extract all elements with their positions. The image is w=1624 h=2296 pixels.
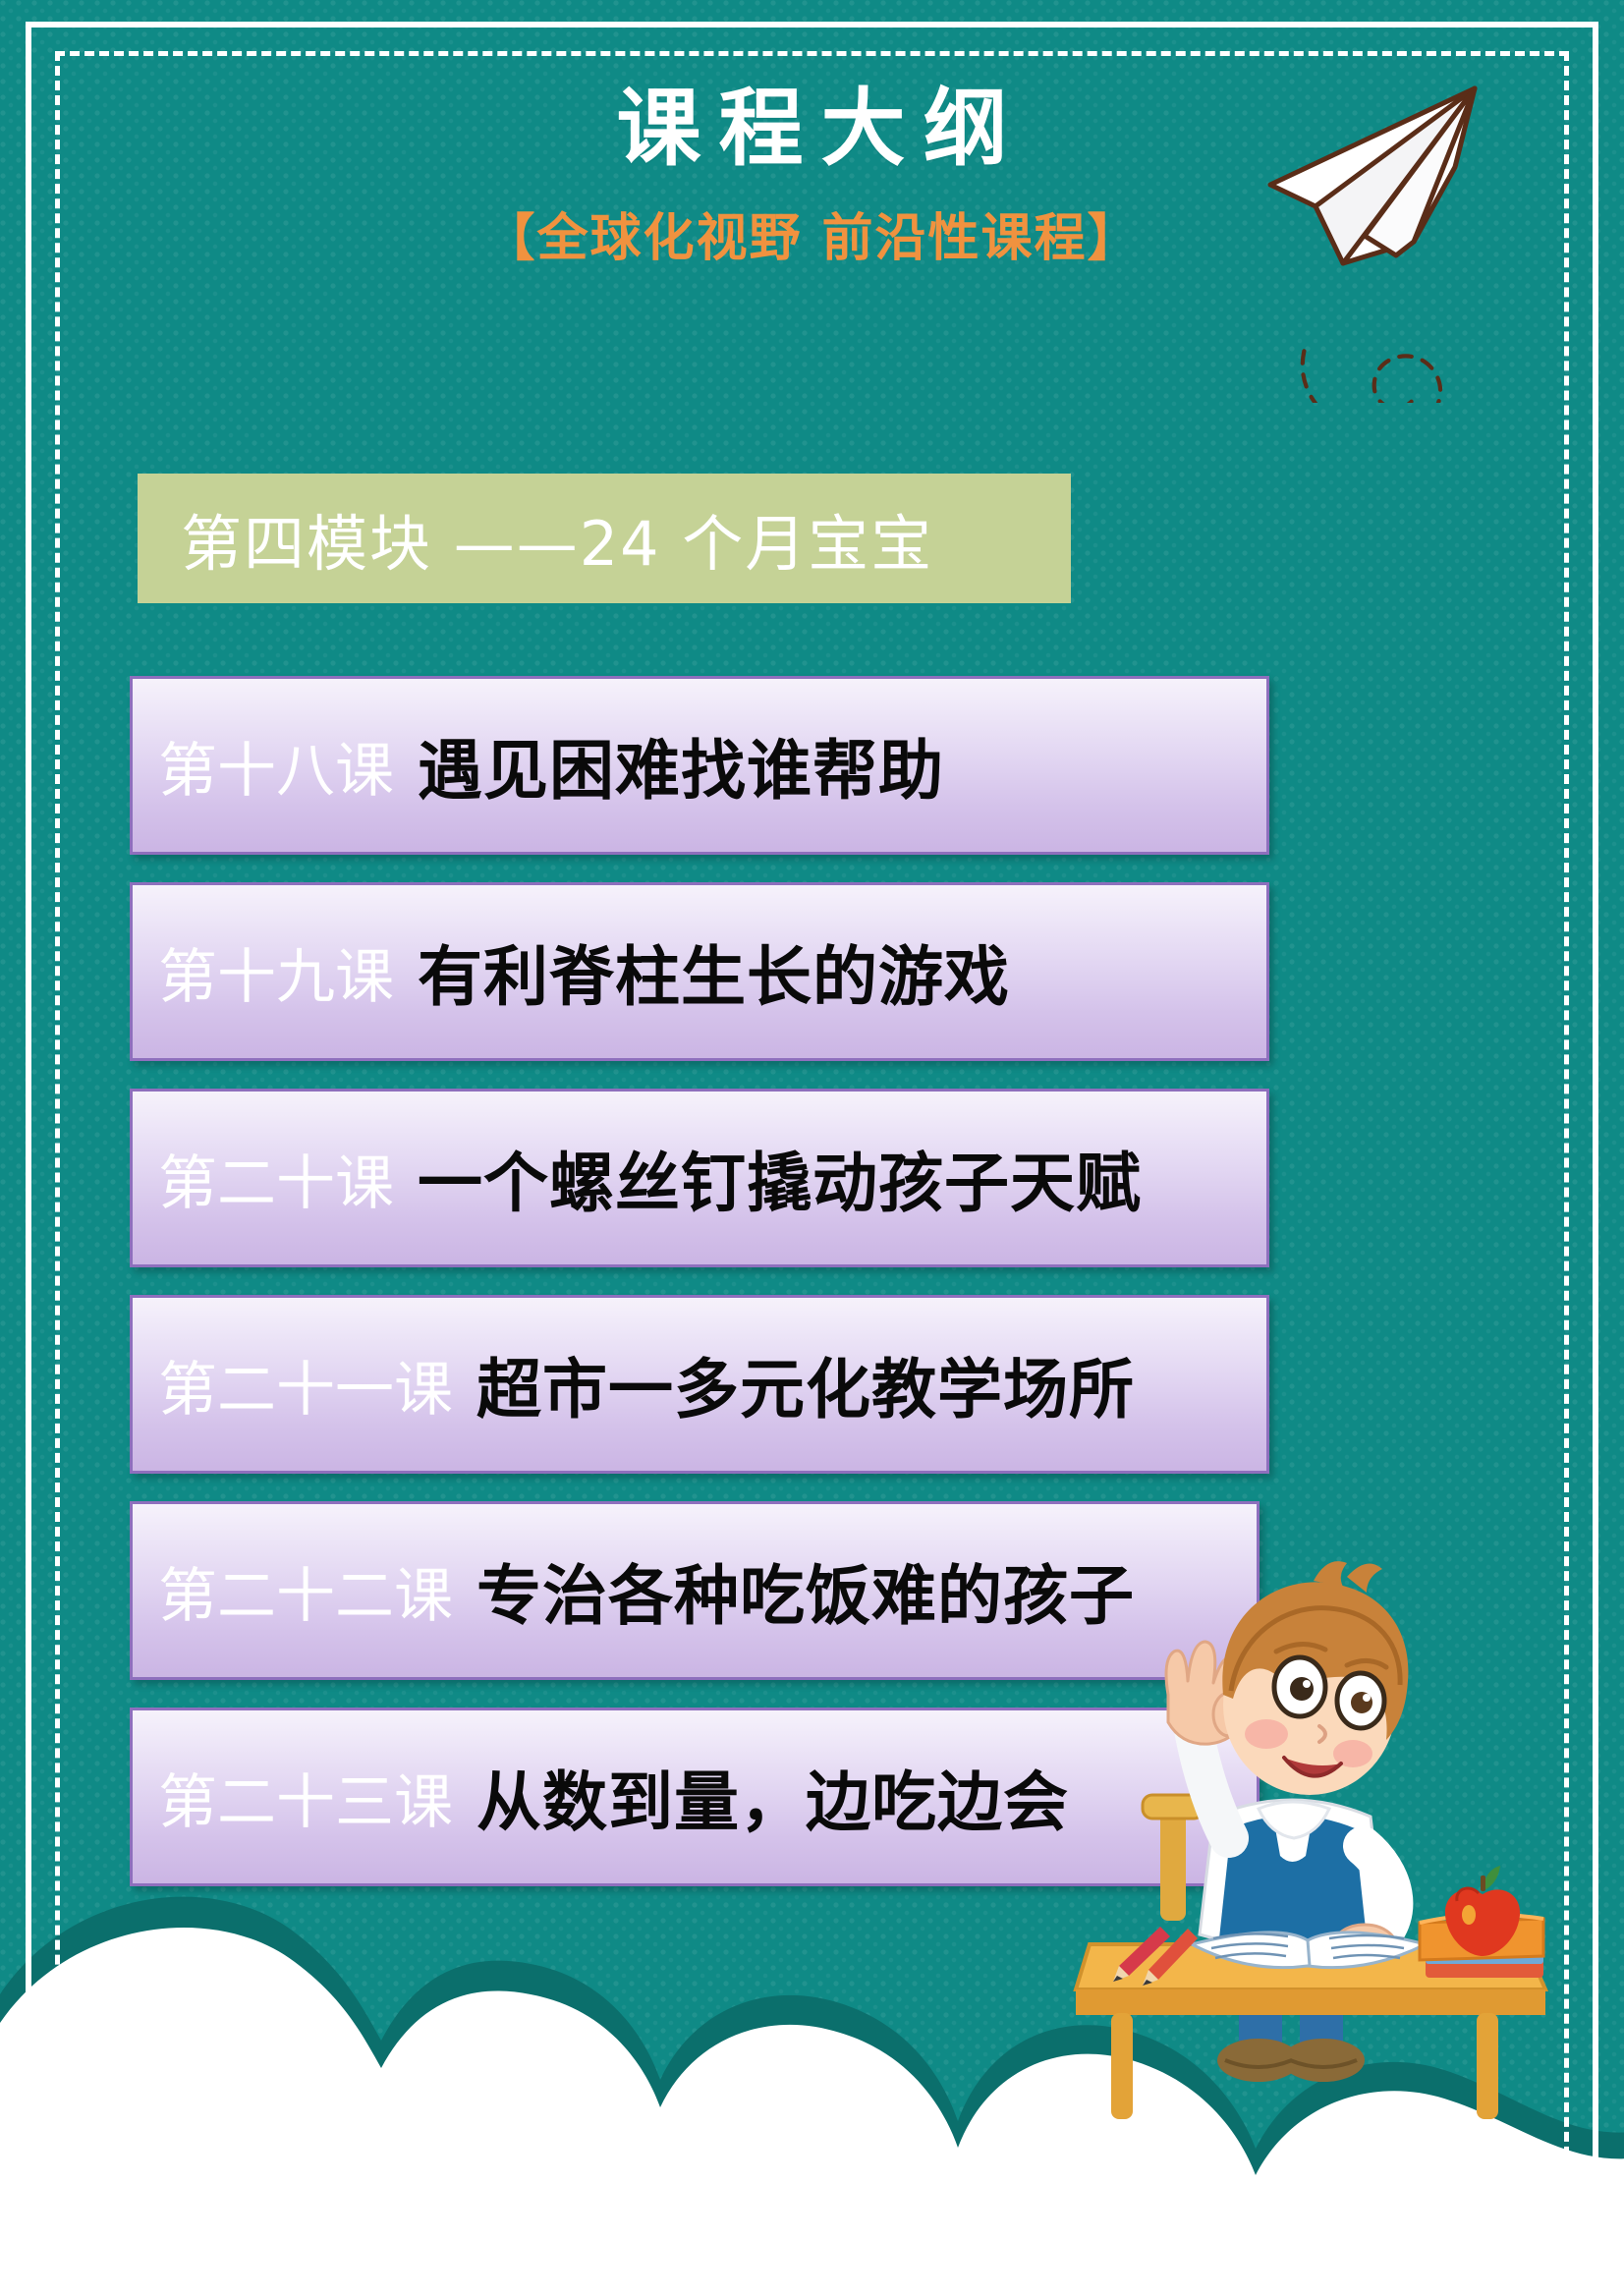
lesson-title: 遇见困难找谁帮助 <box>394 718 944 812</box>
cloud-fill <box>0 1928 1624 2296</box>
lesson-title: 从数到量，边吃边会 <box>453 1750 1069 1844</box>
course-outline-poster: 课程大纲 【全球化视野 前沿性课程】 第四模块 ——24 个月宝宝 第十八课 遇… <box>0 0 1624 2296</box>
lesson-number: 第十八课 <box>133 723 394 809</box>
boy-resting-arm <box>1333 1846 1396 1968</box>
lesson-list: 第十八课 遇见困难找谁帮助 第十九课 有利脊柱生长的游戏 第二十课 一个螺丝钉撬… <box>130 676 1269 1914</box>
lesson-title: 超市一多元化教学场所 <box>453 1337 1135 1431</box>
cloud-outline <box>0 1897 1624 2296</box>
lesson-number: 第十九课 <box>133 929 394 1015</box>
stacked-books <box>1420 1915 1543 1978</box>
poster-header: 课程大纲 【全球化视野 前沿性课程】 <box>0 0 1624 422</box>
lesson-number: 第二十三课 <box>133 1755 453 1840</box>
red-pencils <box>1113 1927 1198 1986</box>
module-header-bar: 第四模块 ——24 个月宝宝 <box>138 474 1071 603</box>
boy-legs <box>1217 1917 1365 2082</box>
lesson-number: 第二十课 <box>133 1136 394 1221</box>
open-notebook <box>1192 1932 1426 1968</box>
lesson-title: 专治各种吃饭难的孩子 <box>453 1543 1135 1638</box>
lesson-title: 有利脊柱生长的游戏 <box>394 924 1010 1019</box>
module-label: 第四模块 ——24 个月宝宝 <box>138 494 933 583</box>
list-item[interactable]: 第十九课 有利脊柱生长的游戏 <box>130 882 1269 1061</box>
page-subtitle: 【全球化视野 前沿性课程】 <box>0 196 1624 270</box>
list-item[interactable]: 第二十一课 超市一多元化教学场所 <box>130 1295 1269 1474</box>
list-item[interactable]: 第二十课 一个螺丝钉撬动孩子天赋 <box>130 1089 1269 1267</box>
lesson-number: 第二十一课 <box>133 1342 453 1428</box>
list-item[interactable]: 第二十三课 从数到量，边吃边会 <box>130 1708 1260 1886</box>
page-title: 课程大纲 <box>0 84 1624 173</box>
list-item[interactable]: 第二十二课 专治各种吃饭难的孩子 <box>130 1501 1260 1680</box>
lesson-title: 一个螺丝钉撬动孩子天赋 <box>394 1131 1142 1225</box>
red-apple <box>1445 1866 1520 1956</box>
list-item[interactable]: 第十八课 遇见困难找谁帮助 <box>130 676 1269 855</box>
lesson-number: 第二十二课 <box>133 1548 453 1634</box>
